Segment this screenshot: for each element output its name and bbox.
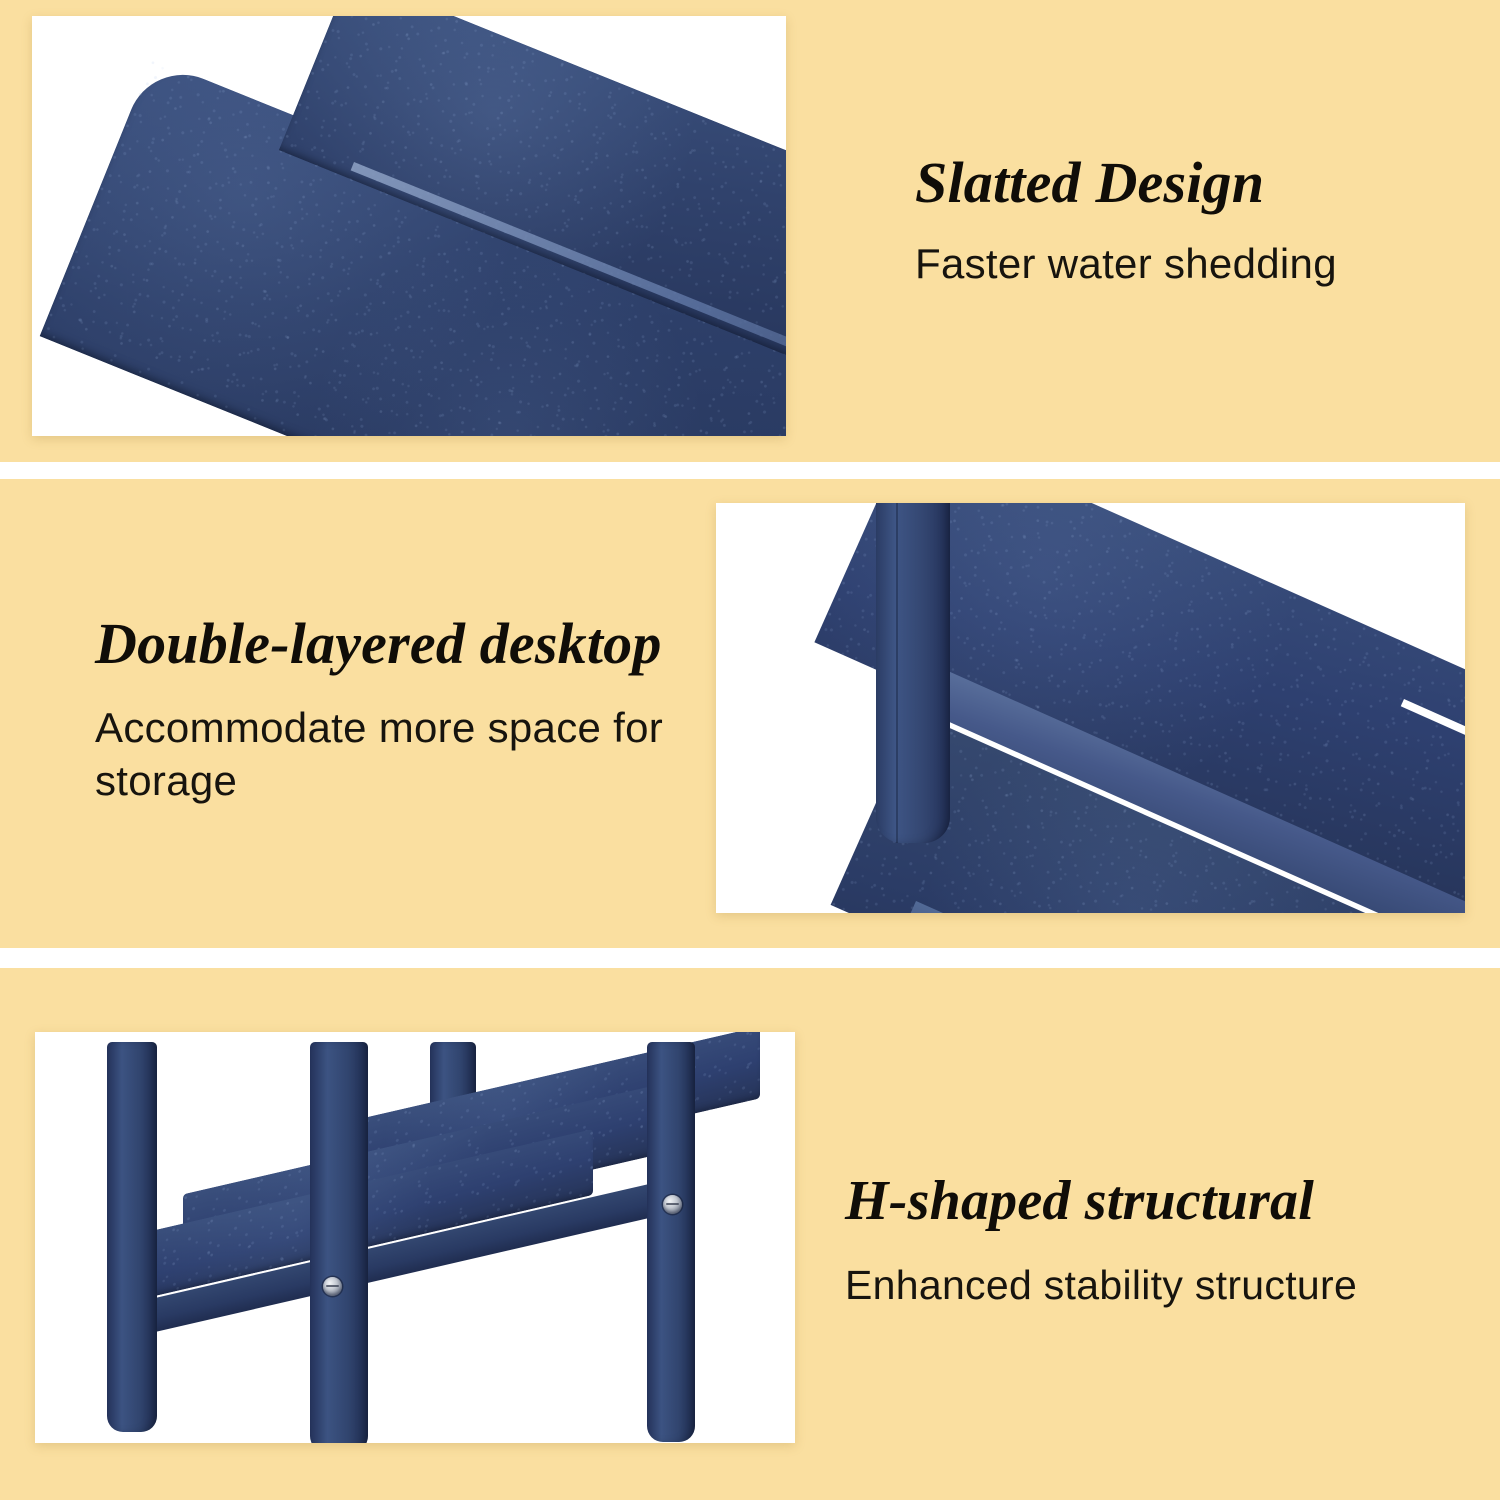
panel-divider-bottom [0,948,1500,968]
feature-heading: H-shaped structural [845,1172,1465,1231]
feature-subtitle: Accommodate more space for storage [95,702,670,808]
feature-subtitle: Enhanced stability structure [845,1261,1465,1310]
table-leg [876,503,950,843]
feature-text-double-layered-desktop: Double-layered desktop Accommodate more … [95,612,670,808]
table-leg-front [310,1042,368,1443]
feature-photo-double-layered-desktop [716,503,1465,913]
table-leg-back-left [107,1042,157,1432]
feature-heading: Double-layered desktop [95,612,670,676]
product-feature-infographic: Slatted Design Faster water shedding Dou… [0,0,1500,1500]
feature-subtitle: Faster water shedding [915,239,1455,289]
screw-icon [323,1277,342,1296]
screw-icon [663,1195,682,1214]
feature-text-h-shaped-structural: H-shaped structural Enhanced stability s… [845,1172,1465,1311]
table-leg-back-right [647,1042,695,1442]
feature-photo-slatted-design [32,16,786,436]
feature-photo-h-shaped-structural [35,1032,795,1443]
feature-heading: Slatted Design [915,152,1455,213]
panel-divider-top [0,462,1500,479]
feature-text-slatted-design: Slatted Design Faster water shedding [915,152,1455,290]
